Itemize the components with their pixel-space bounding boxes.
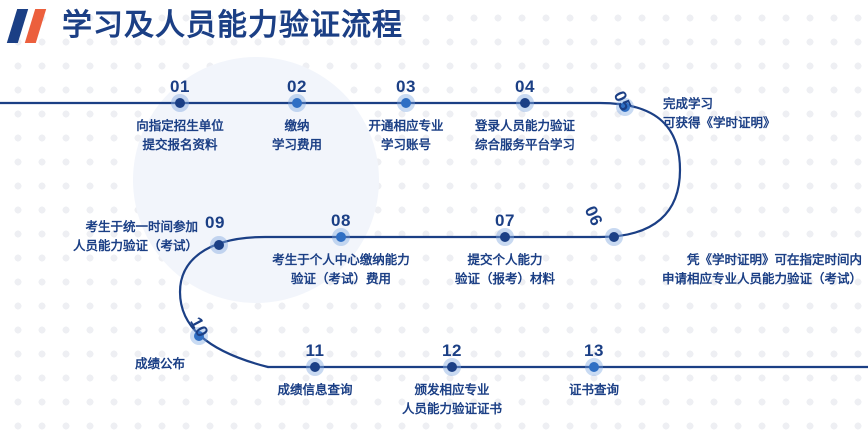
step-number-02: 02 xyxy=(287,77,307,97)
step-label-01-line2: 提交报名资料 xyxy=(136,136,224,155)
step-label-11: 成绩信息查询 xyxy=(277,381,352,400)
step-label-08: 考生于个人中心缴纳能力 验证（考试）费用 xyxy=(272,251,410,289)
step-label-02-line2: 学习费用 xyxy=(272,136,322,155)
step-label-03-line1: 开通相应专业 xyxy=(368,117,443,136)
step-label-03-line2: 学习账号 xyxy=(368,136,443,155)
step-number-04: 04 xyxy=(515,77,535,97)
double-slash-icon xyxy=(8,9,54,43)
page-title: 学习及人员能力验证流程 xyxy=(8,4,403,48)
step-number-09: 09 xyxy=(205,213,225,233)
step-label-04-line1: 登录人员能力验证 xyxy=(475,117,575,136)
step-label-07-line2: 验证（报考）材料 xyxy=(455,270,555,289)
step-number-11: 11 xyxy=(306,341,325,361)
page-title-text: 学习及人员能力验证流程 xyxy=(62,9,403,43)
step-label-12-line2: 人员能力验证证书 xyxy=(402,400,502,419)
step-number-13: 13 xyxy=(584,341,604,361)
timeline-path xyxy=(0,0,868,433)
step-label-12: 颁发相应专业 人员能力验证证书 xyxy=(402,381,502,419)
step-label-04: 登录人员能力验证 综合服务平台学习 xyxy=(475,117,575,155)
step-label-04-line2: 综合服务平台学习 xyxy=(475,136,575,155)
step-label-06-line1: 凭《学时证明》可在指定时间内 xyxy=(662,251,862,270)
step-label-05-line2: 可获得《学时证明》 xyxy=(663,114,776,133)
step-number-01: 01 xyxy=(170,77,190,97)
step-label-03: 开通相应专业 学习账号 xyxy=(368,117,443,155)
step-number-03: 03 xyxy=(396,77,416,97)
step-number-07: 07 xyxy=(495,211,515,231)
step-label-06-line2: 申请相应专业人员能力验证（考试） xyxy=(662,270,862,289)
step-label-01: 向指定招生单位 提交报名资料 xyxy=(136,117,224,155)
step-label-05-line1: 完成学习 xyxy=(663,95,776,114)
step-label-07: 提交个人能力 验证（报考）材料 xyxy=(455,251,555,289)
step-label-10-line1: 成绩公布 xyxy=(135,355,185,374)
infographic-root: 学习及人员能力验证流程 01 向指定招生单位 提交报名资料 02 缴纳 学习费用… xyxy=(0,0,868,433)
step-label-01-line1: 向指定招生单位 xyxy=(136,117,224,136)
step-label-08-line1: 考生于个人中心缴纳能力 xyxy=(272,251,410,270)
step-label-05: 完成学习 可获得《学时证明》 xyxy=(663,95,776,133)
step-label-06: 凭《学时证明》可在指定时间内 申请相应专业人员能力验证（考试） xyxy=(662,251,862,289)
step-label-13: 证书查询 xyxy=(569,381,619,400)
step-label-12-line1: 颁发相应专业 xyxy=(402,381,502,400)
step-number-08: 08 xyxy=(331,211,351,231)
step-label-07-line1: 提交个人能力 xyxy=(455,251,555,270)
step-label-09: 考生于统一时间参加 人员能力验证（考试） xyxy=(73,218,198,256)
step-label-02-line1: 缴纳 xyxy=(272,117,322,136)
step-label-08-line2: 验证（考试）费用 xyxy=(272,270,410,289)
step-label-02: 缴纳 学习费用 xyxy=(272,117,322,155)
step-label-13-line1: 证书查询 xyxy=(569,381,619,400)
step-label-11-line1: 成绩信息查询 xyxy=(277,381,352,400)
step-number-12: 12 xyxy=(442,341,462,361)
step-label-09-line1: 考生于统一时间参加 xyxy=(73,218,198,237)
step-label-10: 成绩公布 xyxy=(135,355,185,374)
step-label-09-line2: 人员能力验证（考试） xyxy=(73,237,198,256)
